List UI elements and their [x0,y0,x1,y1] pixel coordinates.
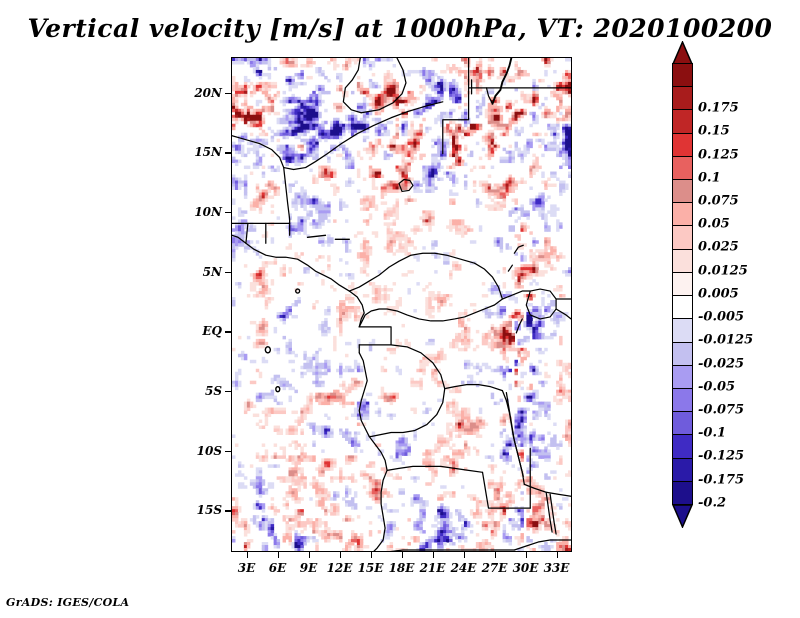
lon-tick-mark [526,552,527,558]
lon-tick-mark [495,552,496,558]
lon-tick-label-24E: 24E [451,561,477,575]
colorbar-cell-5 [672,179,693,204]
colorbar-arrow-bottom [672,504,693,528]
lat-tick-label-10S: 10S [180,444,222,458]
colorbar-label-10: -0.0125 [698,333,753,348]
colorbar-cell-2 [672,109,693,134]
lat-tick-mark [225,391,231,392]
colorbar-cell-0 [672,63,693,88]
colorbar-label-7: 0.0125 [698,263,748,278]
colorbar-cell-16 [672,434,693,459]
map-plot-area [231,57,572,552]
lat-tick-label-20N: 20N [180,86,222,100]
colorbar-label-1: 0.15 [698,124,730,139]
colorbar-arrow-top [672,41,693,65]
lat-tick-mark [225,510,231,511]
page-title: Vertical velocity [m/s] at 1000hPa, VT: … [0,14,800,43]
colorbar-label-14: -0.1 [698,426,726,441]
lon-tick-mark [247,552,248,558]
colorbar-cell-14 [672,388,693,413]
lon-tick-label-18E: 18E [389,561,415,575]
colorbar-cell-11 [672,318,693,343]
lat-tick-mark [225,93,231,94]
lat-tick-mark [225,331,231,332]
colorbar-label-12: -0.05 [698,379,735,394]
colorbar-label-15: -0.125 [698,449,744,464]
colorbar-label-5: 0.05 [698,217,730,232]
lon-tick-label-30E: 30E [513,561,539,575]
lon-tick-label-3E: 3E [238,561,256,575]
colorbar-label-2: 0.125 [698,147,739,162]
colorbar-label-17: -0.2 [698,495,726,510]
lon-tick-label-21E: 21E [420,561,446,575]
colorbar-cell-7 [672,225,693,250]
lat-tick-label-10N: 10N [180,205,222,219]
colorbar [672,63,693,548]
lat-tick-label-5N: 5N [180,265,222,279]
colorbar-cell-8 [672,249,693,274]
lat-tick-label-15S: 15S [180,503,222,517]
lon-tick-label-12E: 12E [327,561,353,575]
lon-tick-mark [557,552,558,558]
lat-tick-mark [225,152,231,153]
colorbar-label-0: 0.175 [698,101,739,116]
lat-tick-label-5S: 5S [180,384,222,398]
colorbar-cell-10 [672,295,693,320]
colorbar-cell-4 [672,156,693,181]
colorbar-cell-1 [672,86,693,111]
lat-tick-mark [225,451,231,452]
colorbar-cell-9 [672,272,693,297]
lat-tick-mark [225,272,231,273]
lon-tick-mark [278,552,279,558]
colorbar-label-3: 0.1 [698,170,721,185]
lon-tick-mark [371,552,372,558]
grads-credit: GrADS: IGES/COLA [6,596,129,609]
grads-plot-page: Vertical velocity [m/s] at 1000hPa, VT: … [0,0,800,618]
colorbar-cell-18 [672,481,693,506]
colorbar-cell-15 [672,411,693,436]
lon-tick-mark [309,552,310,558]
colorbar-cell-13 [672,365,693,390]
lon-tick-mark [340,552,341,558]
lon-tick-mark [464,552,465,558]
lon-tick-mark [433,552,434,558]
lat-tick-label-EQ: EQ [180,324,222,338]
colorbar-label-6: 0.025 [698,240,739,255]
lon-tick-label-27E: 27E [482,561,508,575]
lat-tick-mark [225,212,231,213]
colorbar-label-4: 0.075 [698,194,739,209]
colorbar-label-16: -0.175 [698,472,744,487]
lon-tick-label-9E: 9E [300,561,318,575]
colorbar-label-13: -0.075 [698,402,744,417]
colorbar-cell-3 [672,133,693,158]
lon-tick-label-33E: 33E [544,561,570,575]
lon-tick-label-6E: 6E [269,561,287,575]
lon-tick-label-15E: 15E [358,561,384,575]
map-canvas [232,58,571,551]
colorbar-label-8: 0.005 [698,286,739,301]
colorbar-cell-12 [672,342,693,367]
colorbar-cell-6 [672,202,693,227]
colorbar-cell-17 [672,458,693,483]
colorbar-label-9: -0.005 [698,310,744,325]
lon-tick-mark [402,552,403,558]
lat-tick-label-15N: 15N [180,145,222,159]
colorbar-label-11: -0.025 [698,356,744,371]
